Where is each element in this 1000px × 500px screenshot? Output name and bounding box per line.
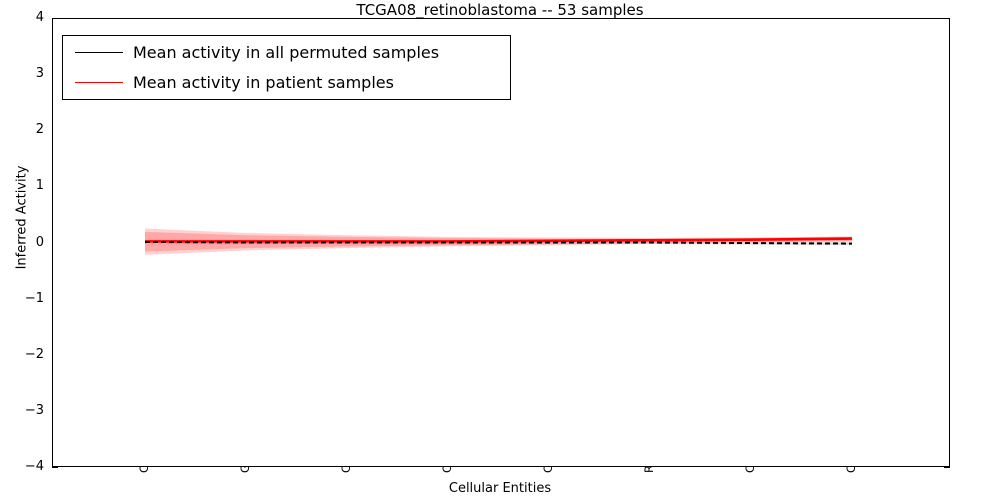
page-title: TCGA08_retinoblastoma -- 53 samples bbox=[0, 1, 1000, 19]
legend-box: Mean activity in all permuted samples Me… bbox=[62, 35, 511, 100]
y-tick-label: −4 bbox=[4, 460, 44, 473]
legend-label-permuted: Mean activity in all permuted samples bbox=[133, 43, 439, 63]
legend-entry-permuted: Mean activity in all permuted samples bbox=[63, 38, 510, 68]
figure-canvas: TCGA08_retinoblastoma -- 53 samples Infe… bbox=[0, 0, 1000, 500]
y-tick-mark bbox=[52, 467, 58, 468]
y-tick-label: 1 bbox=[4, 179, 44, 192]
x-axis-label: Cellular Entities bbox=[0, 481, 1000, 496]
y-tick-mark bbox=[944, 467, 950, 468]
legend-entry-patient: Mean activity in patient samples bbox=[63, 68, 510, 98]
legend-swatch-patient bbox=[75, 82, 123, 83]
legend-label-patient: Mean activity in patient samples bbox=[133, 73, 394, 93]
y-axis-label: Inferred Activity bbox=[15, 58, 30, 378]
y-tick-label: −3 bbox=[4, 404, 44, 417]
y-tick-label: 4 bbox=[4, 11, 44, 24]
y-tick-label: 0 bbox=[4, 236, 44, 249]
y-tick-label: −1 bbox=[4, 292, 44, 305]
y-tick-label: −2 bbox=[4, 348, 44, 361]
y-tick-label: 3 bbox=[4, 67, 44, 80]
legend-swatch-permuted bbox=[75, 52, 123, 53]
y-tick-label: 2 bbox=[4, 123, 44, 136]
